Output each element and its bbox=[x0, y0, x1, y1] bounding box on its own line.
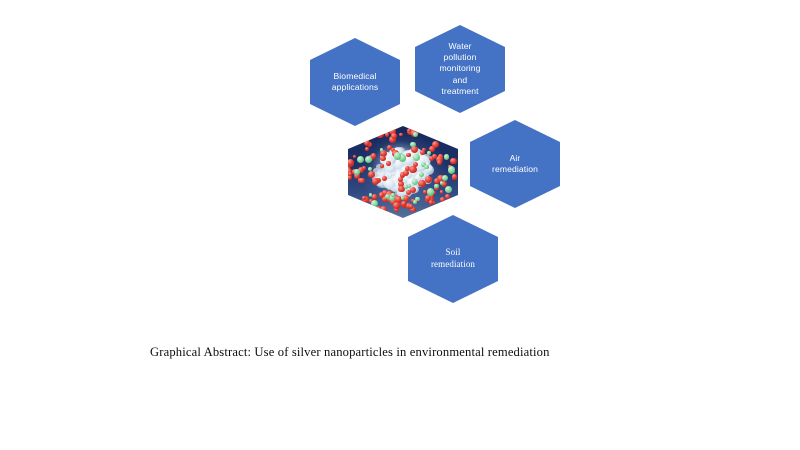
hexagon-label-soil: Soil remediation bbox=[425, 247, 481, 271]
figure-caption: Graphical Abstract: Use of silver nanopa… bbox=[150, 345, 550, 360]
hexagon-label-air: Air remediation bbox=[486, 153, 544, 176]
hexagon-label-biomedical: Biomedical applications bbox=[326, 71, 385, 94]
hexagon-biomedical-applications[interactable]: Biomedical applications bbox=[310, 38, 400, 126]
graphical-abstract-canvas: Biomedical applications Water pollution … bbox=[0, 0, 800, 450]
hexagon-soil-remediation[interactable]: Soil remediation bbox=[408, 215, 498, 303]
hexagon-air-remediation[interactable]: Air remediation bbox=[470, 120, 560, 208]
nanoparticle-spheres bbox=[348, 126, 458, 218]
nanoparticle-image-hexagon bbox=[348, 126, 458, 218]
hexagon-label-water: Water pollution monitoring and treatment bbox=[433, 41, 486, 98]
hexagon-water-pollution-monitoring-and-treatment[interactable]: Water pollution monitoring and treatment bbox=[415, 25, 505, 113]
